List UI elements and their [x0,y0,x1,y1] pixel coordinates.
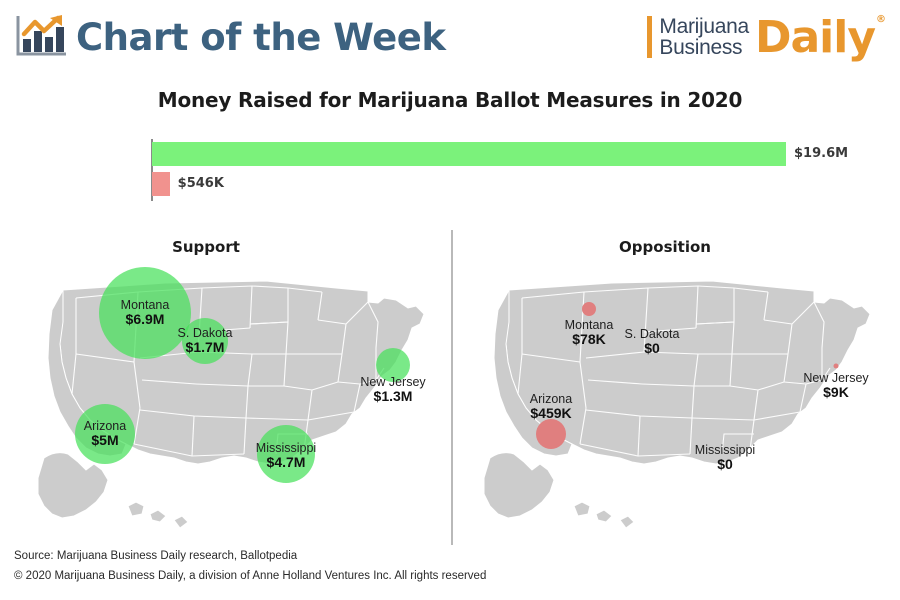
registered-trademark-icon: ® [876,14,885,25]
bar-value-support: $19.6M [794,142,848,166]
map-label-name: S. Dakota [625,327,680,341]
panel-divider [451,230,453,545]
map-label-opposition-south-dakota: S. Dakota$0 [625,327,680,357]
map-label-opposition-mississippi: Mississippi$0 [695,443,755,473]
chart-title: Money Raised for Marijuana Ballot Measur… [0,88,900,112]
map-label-name: Arizona [530,392,572,406]
bar-opposition [152,172,170,196]
map-label-value: $6.9M [121,312,170,328]
map-label-value: $4.7M [256,455,316,471]
logo-line-marijuana: Marijuana [659,16,749,37]
logo-wordmark: Marijuana Business [659,16,749,59]
map-label-support-new-jersey: New Jersey$1.3M [360,375,425,405]
map-label-name: New Jersey [360,375,425,389]
bubble-opposition-arizona [536,419,566,449]
logo-line-business: Business [659,37,749,58]
mjbiz-daily-logo: Marijuana Business Daily® [647,12,884,62]
bubble-opposition-montana [582,302,596,316]
map-label-name: Montana [565,318,614,332]
opposition-map: Montana$78KS. Dakota$0New Jersey$9KArizo… [462,258,892,548]
map-label-name: Montana [121,298,170,312]
map-label-support-mississippi: Mississippi$4.7M [256,441,316,471]
logo-daily-text: Daily [755,12,875,63]
bar-value-opposition: $546K [178,172,224,196]
map-label-value: $1.7M [178,340,233,356]
footer-source: Source: Marijuana Business Daily researc… [14,546,486,566]
map-label-name: S. Dakota [178,326,233,340]
map-label-opposition-montana: Montana$78K [565,318,614,348]
map-label-value: $0 [695,457,755,473]
map-label-support-montana: Montana$6.9M [121,298,170,328]
bar-chart-growth-icon [12,12,68,60]
map-label-value: $0 [625,341,680,357]
map-label-name: Mississippi [256,441,316,455]
map-label-name: Arizona [84,419,126,433]
map-label-name: New Jersey [803,371,868,385]
bubble-opposition-new-jersey [834,364,839,369]
map-label-value: $459K [530,406,572,422]
map-label-value: $5M [84,433,126,449]
totals-bar-chart: Support $19.6M Opposition $546K [0,136,900,204]
panel-title-opposition: Opposition [565,238,765,256]
footer: Source: Marijuana Business Daily researc… [14,546,486,586]
bar-support [152,142,786,166]
map-label-support-arizona: Arizona$5M [84,419,126,449]
map-label-opposition-arizona: Arizona$459K [530,392,572,422]
support-map: Montana$6.9MS. Dakota$1.7MNew Jersey$1.3… [16,258,446,548]
logo-daily: Daily® [755,16,884,60]
chart-of-the-week-title: Chart of the Week [76,16,445,59]
map-label-opposition-new-jersey: New Jersey$9K [803,371,868,401]
panel-title-support: Support [106,238,306,256]
map-label-value: $78K [565,332,614,348]
map-label-value: $1.3M [360,389,425,405]
map-label-value: $9K [803,385,868,401]
footer-copyright: © 2020 Marijuana Business Daily, a divis… [14,566,486,586]
map-label-support-south-dakota: S. Dakota$1.7M [178,326,233,356]
map-label-name: Mississippi [695,443,755,457]
logo-accent-bar [647,16,652,58]
page-header: Chart of the Week Marijuana Business Dai… [0,0,900,72]
us-map-outline-opposition [462,258,892,548]
